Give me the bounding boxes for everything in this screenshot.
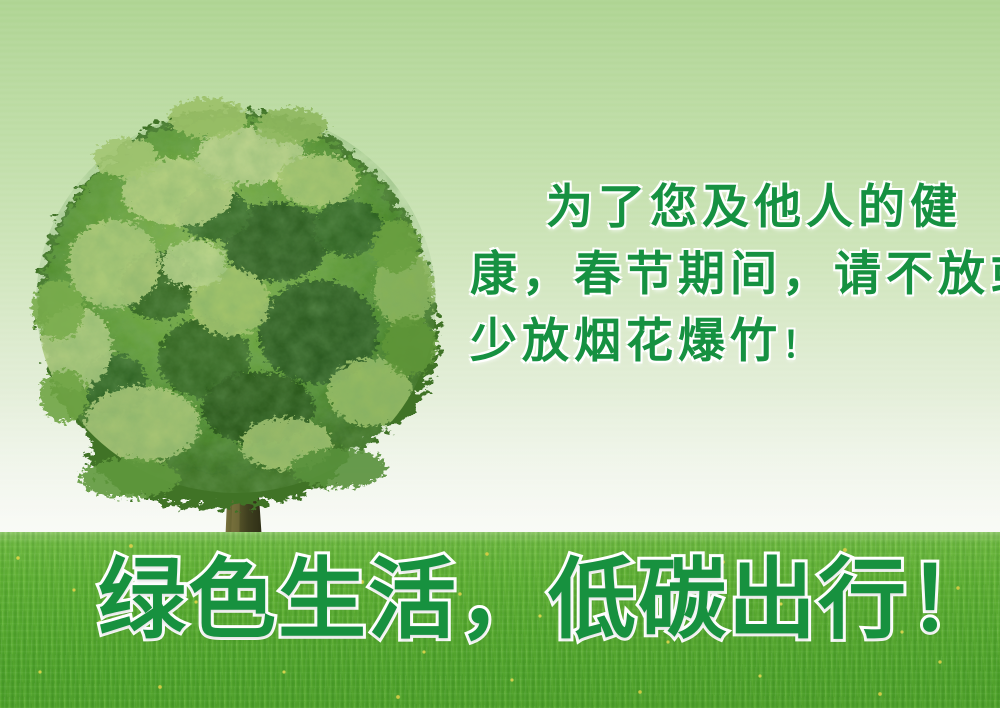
message-line-3-text: 少放烟花爆竹: [470, 314, 782, 369]
poster-canvas: 为了您及他人的健 康，春节期间，请不放或 少放烟花爆竹！ 绿色生活，低碳出行！: [0, 0, 1000, 708]
message-line-2: 康，春节期间，请不放或: [470, 241, 990, 308]
tree-illustration: [18, 96, 458, 576]
tree-canopy-group: [32, 98, 438, 508]
message-line-3: 少放烟花爆竹！: [470, 308, 990, 379]
poster-headline: 绿色生活，低碳出行！: [98, 552, 998, 648]
message-exclamation: ！: [782, 325, 818, 366]
message-line-1: 为了您及他人的健: [470, 174, 990, 241]
public-service-message: 为了您及他人的健 康，春节期间，请不放或 少放烟花爆竹！: [470, 174, 990, 379]
